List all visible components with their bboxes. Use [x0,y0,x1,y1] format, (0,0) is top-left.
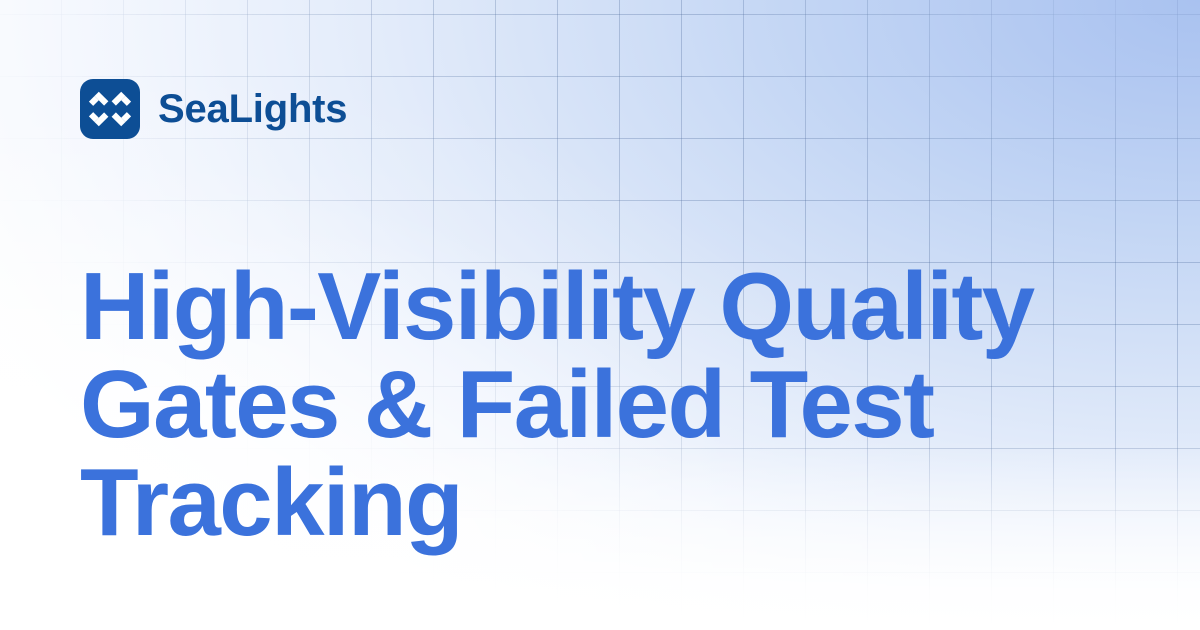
page-title: High-Visibility Quality Gates & Failed T… [80,258,1140,552]
social-card: SeaLights High-Visibility Quality Gates … [0,0,1200,630]
brand-lockup[interactable]: SeaLights [80,79,347,139]
sealights-x-logo-icon [80,79,140,139]
brand-name: SeaLights [158,89,347,129]
card-content: SeaLights High-Visibility Quality Gates … [0,0,1200,630]
